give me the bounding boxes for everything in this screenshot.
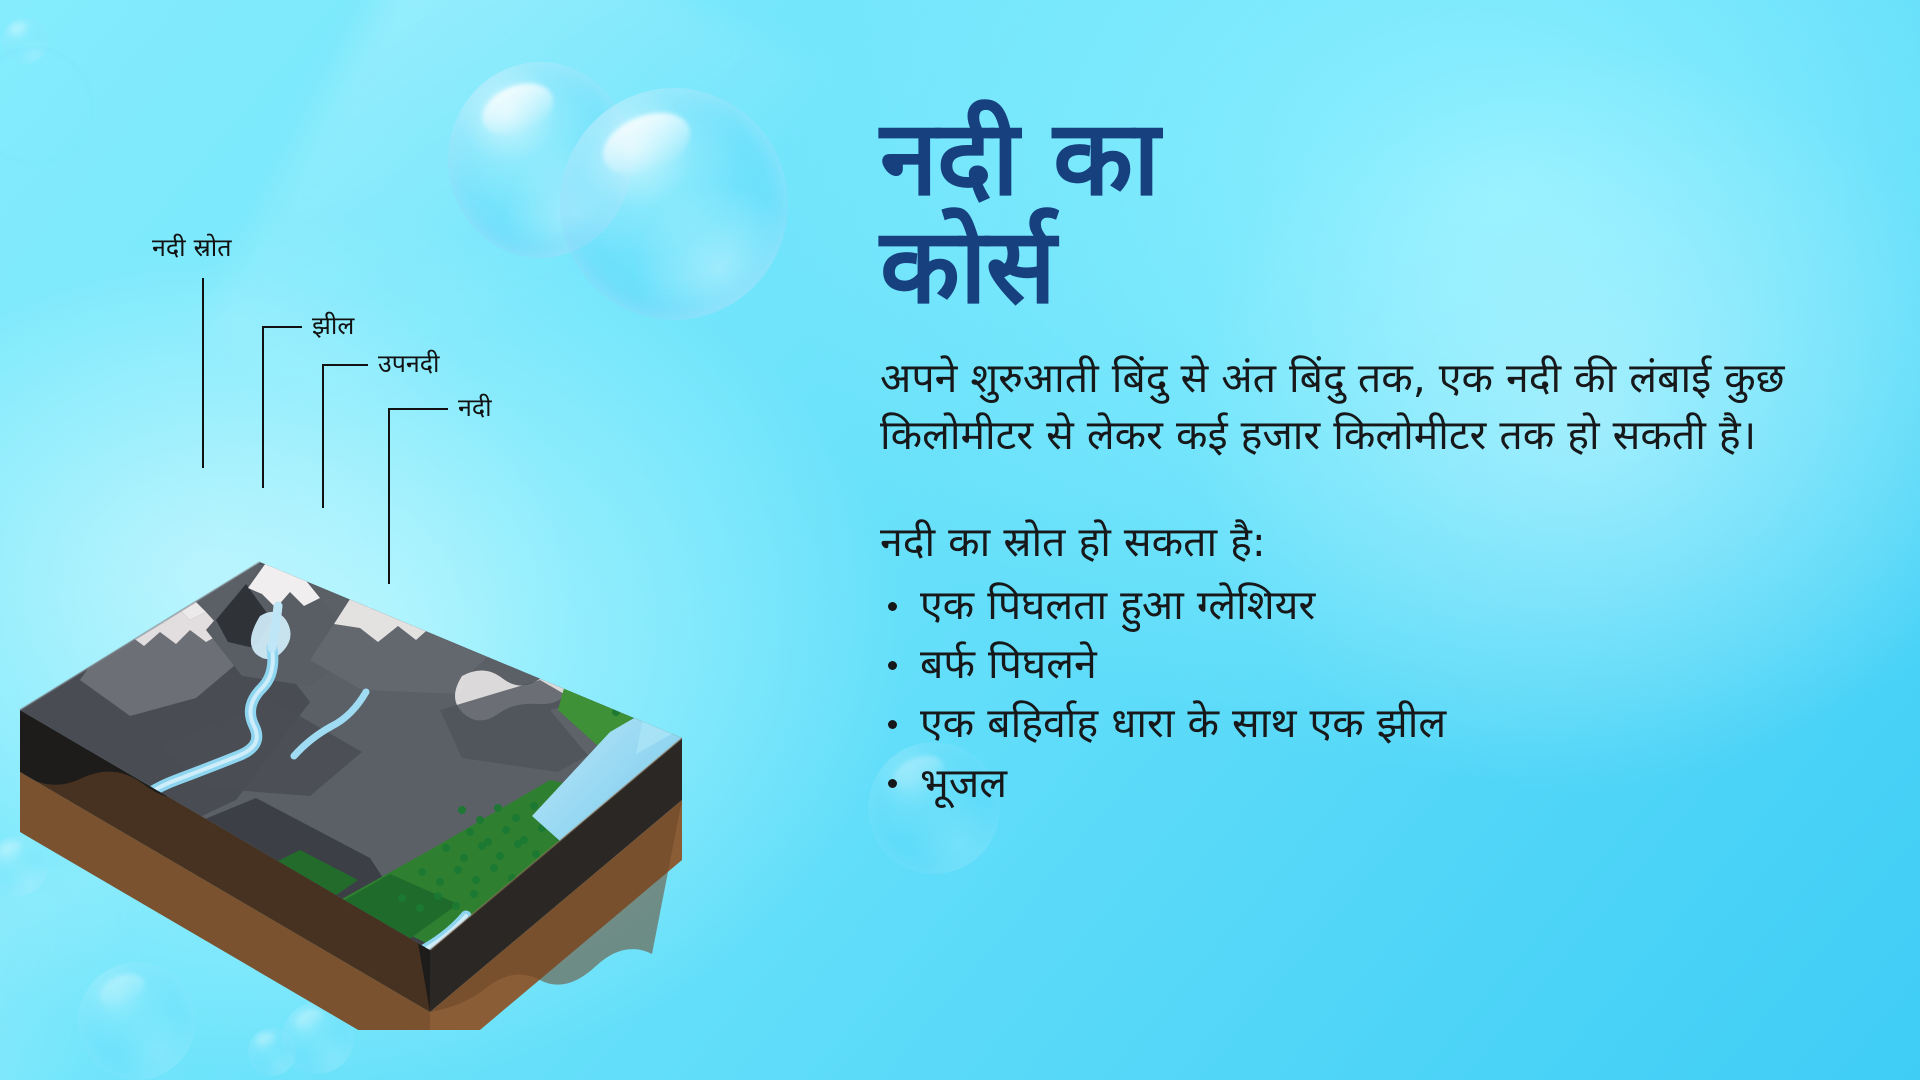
bubble-small-upper-left — [2, 18, 48, 64]
leader-line-tributary-horizontal — [322, 364, 368, 366]
page-title-line-2: कोर्स — [880, 212, 1860, 320]
bullet-dot-icon — [888, 779, 897, 788]
peak-right-snow — [352, 530, 450, 610]
peak-left-snow — [122, 566, 206, 624]
diagram-label-tributary: उपनदी — [378, 346, 440, 380]
list-item-label: बर्फ पिघलने — [920, 640, 1097, 688]
page-title-line-1: नदी का — [880, 97, 1159, 219]
list-item-label: एक बहिर्वाह धारा के साथ एक झील — [920, 699, 1446, 747]
infographic-canvas: नदी स्रोत झील उपनदी नदी — [0, 0, 1920, 1080]
river-course-diagram: नदी स्रोत झील उपनदी नदी — [0, 230, 860, 1030]
bubble-ring-left-edge — [0, 46, 94, 166]
diagram-label-river-source: नदी स्रोत — [152, 230, 231, 264]
sources-list: एक पिघलता हुआ ग्लेशियर बर्फ पिघलने एक बह… — [880, 576, 1860, 812]
intro-paragraph: अपने शुरुआती बिंदु से अंत बिंदु तक, एक न… — [880, 350, 1820, 463]
list-item: एक पिघलता हुआ ग्लेशियर — [880, 576, 1860, 635]
list-item: एक बहिर्वाह धारा के साथ एक झील — [880, 694, 1860, 753]
bubble-large-top — [448, 62, 632, 258]
list-item: भूजल — [880, 754, 1860, 813]
bullet-dot-icon — [888, 661, 897, 670]
terrain-block-illustration — [10, 380, 710, 1030]
peak-far-right-snow — [504, 610, 582, 662]
diagram-label-lake: झील — [312, 308, 354, 342]
page-title: नदी का कोर्स — [880, 104, 1860, 320]
leader-line-lake-horizontal — [262, 326, 302, 328]
upper-stream — [272, 606, 278, 648]
text-panel: नदी का कोर्स अपने शुरुआती बिंदु से अंत ब… — [880, 104, 1860, 813]
bullet-dot-icon — [888, 602, 897, 611]
sources-heading: नदी का स्रोत हो सकता है: — [880, 515, 1860, 570]
list-item-label: एक पिघलता हुआ ग्लेशियर — [920, 581, 1315, 629]
bullet-dot-icon — [888, 720, 897, 729]
list-item-label: भूजल — [920, 759, 1007, 807]
bubble-bottom-left-c — [248, 1028, 296, 1076]
list-item: बर्फ पिघलने — [880, 635, 1860, 694]
